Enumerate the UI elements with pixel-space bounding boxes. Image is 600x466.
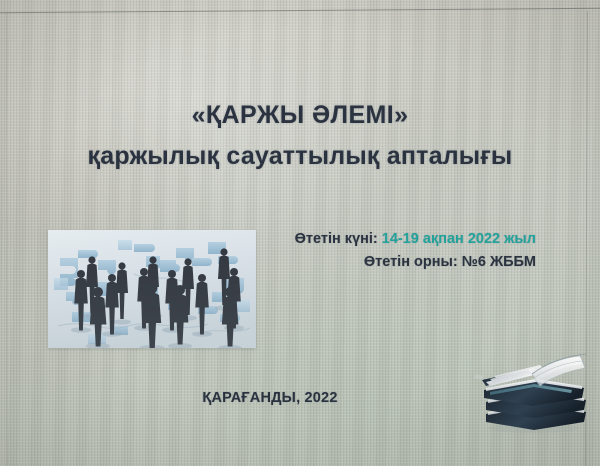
detail-label-date: Өтетін күні: xyxy=(295,231,378,247)
slide-details-block: Өтетін күні: 14-19 ақпан 2022 жыл Өтетін… xyxy=(295,228,536,275)
slide-title-line-1: «ҚАРЖЫ ӘЛЕМІ» xyxy=(0,101,600,131)
slide-footer-text: ҚАРАҒАНДЫ, 2022 xyxy=(202,390,337,406)
slide-title-line-2: қаржылық сауаттылық апталығы xyxy=(0,141,600,172)
detail-value-venue: №6 ЖББМ xyxy=(462,254,536,270)
slide-footer-block: ҚАРАҒАНДЫ, 2022 xyxy=(0,389,600,407)
detail-label-venue: Өтетін орны: xyxy=(364,254,458,270)
detail-row-date: Өтетін күні: 14-19 ақпан 2022 жыл xyxy=(295,228,536,251)
slide-title-block: «ҚАРЖЫ ӘЛЕМІ» қаржылық сауаттылық апталы… xyxy=(0,101,600,171)
detail-value-date: 14-19 ақпан 2022 жыл xyxy=(382,231,536,247)
screenshot-root: «ҚАРЖЫ ӘЛЕМІ» қаржылық сауаттылық апталы… xyxy=(0,0,600,466)
detail-row-venue: Өтетін орны: №6 ЖББМ xyxy=(295,251,536,274)
puzzle-people-photo xyxy=(48,230,256,348)
